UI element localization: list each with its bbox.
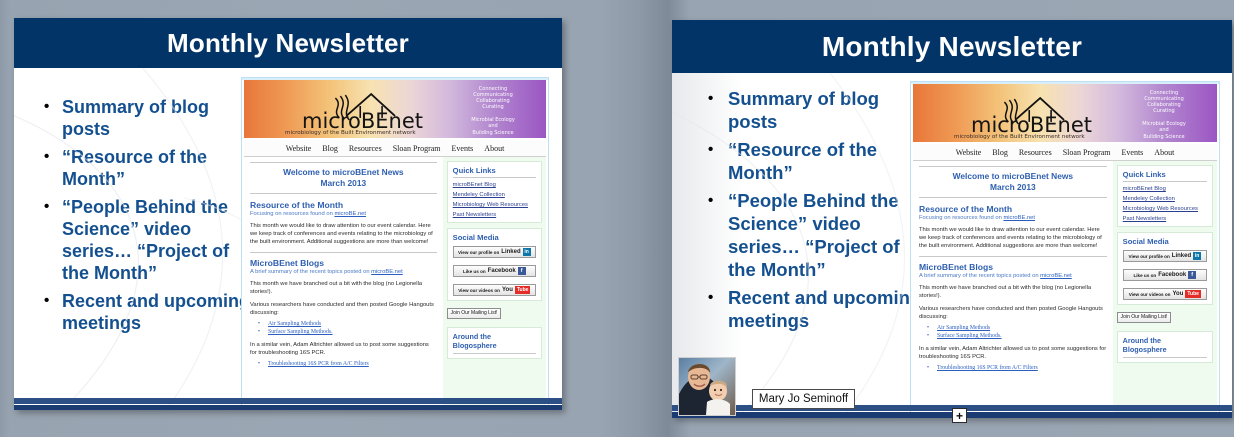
newsletter-main-column: Welcome to microBEnet News March 2013 Re… [913, 161, 1113, 416]
presenter-webcam-video[interactable] [678, 357, 736, 416]
newsletter-sidebar-column: Quick Links microBEnet Blog Mendeley Col… [1113, 161, 1217, 416]
nav-item-sloan-program[interactable]: Sloan Program [393, 144, 441, 153]
logo-right-block: Connecting Communicating Collaborating C… [450, 86, 536, 136]
list-item: • Recent and upcoming meetings [44, 290, 254, 334]
facebook-brand: Facebook [1158, 272, 1186, 278]
list-item[interactable]: •Air Sampling Methods [250, 320, 437, 328]
section-subtitle-text: Focusing on resources found on [919, 215, 1003, 221]
link-troubleshooting-pcr[interactable]: Troubleshooting 16S PCR from A/C Filters [268, 360, 369, 368]
presenter-name-text: Mary Jo Seminoff [759, 393, 848, 405]
newsletter-nav[interactable]: Website Blog Resources Sloan Program Eve… [244, 140, 546, 157]
section-subtitle-resource: Focusing on resources found on microBE.n… [250, 211, 437, 217]
quick-link-blog[interactable]: microBEnet Blog [1123, 186, 1207, 192]
section-subtitle-blogs: A brief summary of the recent topics pos… [250, 269, 437, 275]
logo-right-line: Building Science [450, 130, 536, 136]
youtube-brand: You [502, 287, 513, 293]
facebook-button[interactable]: Like us on Facebook f [1123, 269, 1207, 281]
newsletter-logo-banner: microBEnet microbiology of the Built Env… [244, 80, 546, 138]
blogosphere-title-line-1: Around the [1123, 336, 1207, 345]
youtube-label: View our videos on [1129, 292, 1171, 297]
youtube-brand: You [1172, 291, 1183, 297]
list-item: • “People Behind the Science” video seri… [708, 189, 923, 281]
newsletter-nav[interactable]: Website Blog Resources Sloan Program Eve… [913, 144, 1217, 161]
newsletter-columns: Welcome to microBEnet News March 2013 Re… [913, 161, 1217, 416]
link-air-sampling[interactable]: Air Sampling Methods [268, 320, 321, 328]
nav-item-blog[interactable]: Blog [992, 148, 1008, 157]
logo-right-line: Building Science [1121, 134, 1207, 140]
slide-footer-bar-left-2 [14, 405, 562, 410]
newsletter-image-left[interactable]: microBEnet microbiology of the Built Env… [241, 77, 549, 410]
list-item[interactable]: •Troubleshooting 16S PCR from A/C Filter… [250, 360, 437, 368]
bullet-text: Recent and upcoming meetings [728, 286, 923, 332]
microbe-net-link[interactable]: microBE.net [1003, 215, 1035, 221]
blogosphere-title-line-2: Blogosphere [1123, 345, 1207, 354]
bullet-dot-icon: • [919, 324, 937, 332]
bullet-text: “People Behind the Science” video series… [728, 189, 923, 281]
quick-link-past-newsletters[interactable]: Past Newsletters [453, 212, 536, 218]
facebook-label: Like us on [1133, 273, 1156, 278]
nav-item-blog[interactable]: Blog [322, 144, 338, 153]
section-subtitle-text: A brief summary of the recent topics pos… [919, 273, 1040, 279]
presenter-thumbnail-image [679, 358, 735, 415]
bullet-text: “Resource of the Month” [728, 138, 923, 184]
masthead-line-1: Welcome to microBEnet News [919, 171, 1107, 182]
bullet-list-left: • Summary of blog posts • “Resource of t… [14, 68, 254, 410]
section-paragraph-pcr: In a similar vein, Adam Altrichter allow… [250, 341, 437, 357]
quick-link-web-resources[interactable]: Microbiology Web Resources [1123, 206, 1207, 212]
slide-panel-right[interactable]: Monthly Newsletter • Summary of blog pos… [672, 20, 1232, 418]
bullet-dot-icon: • [919, 364, 937, 372]
nav-item-events[interactable]: Events [452, 144, 474, 153]
join-mailing-list-label: Join Our Mailing List! [1121, 314, 1168, 320]
youtube-button[interactable]: View our videos on You Tube [1123, 288, 1207, 300]
section-paragraph-hangouts: Various researchers have conducted and t… [919, 305, 1107, 321]
nav-item-about[interactable]: About [1154, 148, 1174, 157]
list-item: • “Resource of the Month” [44, 146, 254, 190]
section-paragraph-resource: This month we would like to draw attenti… [919, 226, 1107, 250]
slide-footer-bar-left [14, 398, 562, 404]
section-title-blogs: MicroBEnet Blogs [250, 258, 437, 268]
quick-links-title: Quick Links [453, 166, 536, 175]
newsletter-image-right[interactable]: microBEnet microbiology of the Built Env… [910, 81, 1220, 416]
blogosphere-card: Around the Blogosphere [1117, 331, 1213, 363]
linkedin-button[interactable]: View our profile on Linked in [453, 246, 536, 258]
facebook-icon: f [518, 267, 526, 275]
bullet-dot-icon: • [250, 360, 268, 368]
bullet-dot-icon: • [250, 320, 268, 328]
youtube-button[interactable]: View our videos on You Tube [453, 284, 536, 296]
section-paragraph-pcr: In a similar vein, Adam Altrichter allow… [919, 345, 1107, 361]
section-paragraph-hangouts: Various researchers have conducted and t… [250, 301, 437, 317]
nav-item-events[interactable]: Events [1122, 148, 1144, 157]
newsletter-columns: Welcome to microBEnet News March 2013 Re… [244, 157, 546, 410]
bullet-dot-icon: • [44, 96, 62, 118]
section-paragraph-resource: This month we would like to draw attenti… [250, 222, 437, 246]
bullet-dot-icon: • [44, 290, 62, 312]
slide-content-right: • Summary of blog posts • “Resource of t… [672, 73, 1232, 418]
list-item[interactable]: •Air Sampling Methods [919, 324, 1107, 332]
microbe-net-link[interactable]: microBE.net [1040, 273, 1072, 279]
quick-link-mendeley[interactable]: Mendeley Collection [1123, 196, 1207, 202]
blogosphere-title-line-2: Blogosphere [453, 341, 536, 350]
nav-item-resources[interactable]: Resources [1019, 148, 1052, 157]
quick-link-web-resources[interactable]: Microbiology Web Resources [453, 202, 536, 208]
newsletter-logo-banner: microBEnet microbiology of the Built Env… [913, 84, 1217, 142]
bullet-dot-icon: • [250, 328, 268, 336]
join-mailing-list-button[interactable]: Join Our Mailing List! [447, 308, 502, 319]
bullet-text: Recent and upcoming meetings [62, 290, 254, 334]
list-item: • Summary of blog posts [708, 87, 923, 133]
section-paragraph-blogs: This month we have branched out a bit wi… [919, 284, 1107, 300]
linkedin-label: View our profile on [458, 250, 499, 255]
linkedin-icon: in [1193, 252, 1201, 260]
logo-tagline: microbiology of the Built Environment ne… [954, 134, 1085, 140]
nav-item-sloan-program[interactable]: Sloan Program [1063, 148, 1111, 157]
quick-links-card: Quick Links microBEnet Blog Mendeley Col… [447, 161, 542, 223]
microbe-net-link[interactable]: microBE.net [371, 269, 403, 275]
quick-links-title: Quick Links [1123, 170, 1207, 179]
plus-icon: + [956, 409, 963, 423]
link-troubleshooting-pcr[interactable]: Troubleshooting 16S PCR from A/C Filters [937, 364, 1038, 372]
facebook-icon: f [1188, 271, 1196, 279]
social-media-card: Social Media View our profile on Linked … [447, 228, 542, 301]
section-title-resource: Resource of the Month [919, 204, 1107, 214]
link-surface-sampling[interactable]: Surface Sampling Methods. [937, 332, 1002, 340]
list-item[interactable]: •Troubleshooting 16S PCR from A/C Filter… [919, 364, 1107, 372]
list-item: • “Resource of the Month” [708, 138, 923, 184]
newsletter-main-column: Welcome to microBEnet News March 2013 Re… [244, 157, 443, 410]
link-surface-sampling[interactable]: Surface Sampling Methods. [268, 328, 333, 336]
section-subtitle-text: A brief summary of the recent topics pos… [250, 269, 371, 275]
linkedin-icon: in [523, 248, 531, 256]
section-title-resource: Resource of the Month [250, 200, 437, 210]
page-title: Monthly Newsletter [167, 28, 409, 59]
newsletter-sidebar-column: Quick Links microBEnet Blog Mendeley Col… [443, 157, 546, 410]
youtube-label: View our videos on [458, 288, 500, 293]
presenter-name-label: Mary Jo Seminoff [752, 389, 855, 409]
youtube-icon: Tube [515, 286, 531, 294]
bullet-dot-icon: • [708, 87, 728, 110]
quick-link-mendeley[interactable]: Mendeley Collection [453, 192, 536, 198]
slide-content-left: • Summary of blog posts • “Resource of t… [14, 68, 562, 410]
masthead-line-1: Welcome to microBEnet News [250, 167, 437, 178]
section-paragraph-blogs: This month we have branched out a bit wi… [250, 280, 437, 296]
masthead-line-2: March 2013 [919, 182, 1107, 193]
bullet-dot-icon: • [708, 189, 728, 212]
bullet-text: Summary of blog posts [62, 96, 254, 140]
list-item: • Summary of blog posts [44, 96, 254, 140]
page-title: Monthly Newsletter [822, 31, 1082, 63]
blogosphere-title-line-1: Around the [453, 332, 536, 341]
facebook-label: Like us on [463, 269, 486, 274]
quick-link-blog[interactable]: microBEnet Blog [453, 182, 536, 188]
join-mailing-list-label: Join Our Mailing List! [451, 310, 498, 316]
nav-item-resources[interactable]: Resources [349, 144, 382, 153]
masthead-line-2: March 2013 [250, 178, 437, 189]
logo-tagline: microbiology of the Built Environment ne… [285, 130, 416, 136]
linkedin-button[interactable]: View our profile on Linked in [1123, 250, 1207, 262]
logo-right-block: Connecting Communicating Collaborating C… [1121, 90, 1207, 140]
bullet-dot-icon: • [708, 138, 728, 161]
list-item: • “People Behind the Science” video seri… [44, 196, 254, 284]
social-media-title: Social Media [453, 233, 536, 242]
nav-item-website[interactable]: Website [286, 144, 312, 153]
facebook-button[interactable]: Like us on Facebook f [453, 265, 536, 277]
linkedin-label: View our profile on [1129, 254, 1170, 259]
nav-item-website[interactable]: Website [956, 148, 982, 157]
bullet-text: Summary of blog posts [728, 87, 923, 133]
slide-panel-left[interactable]: Monthly Newsletter • Summary of blog pos… [14, 18, 562, 410]
list-item[interactable]: •Surface Sampling Methods. [250, 328, 437, 336]
bullet-dot-icon: • [919, 332, 937, 340]
section-subtitle-text: Focusing on resources found on [250, 211, 334, 217]
quick-link-past-newsletters[interactable]: Past Newsletters [1123, 216, 1207, 222]
section-title-blogs: MicroBEnet Blogs [919, 262, 1107, 272]
youtube-icon: Tube [1185, 290, 1201, 298]
bullet-dot-icon: • [44, 146, 62, 168]
slide-title-bar-right: Monthly Newsletter [672, 20, 1232, 73]
blogosphere-card: Around the Blogosphere [447, 327, 542, 359]
bullet-dot-icon: • [708, 286, 728, 309]
slide-title-bar-left: Monthly Newsletter [14, 18, 562, 68]
quick-links-card: Quick Links microBEnet Blog Mendeley Col… [1117, 165, 1213, 227]
bullet-text: “People Behind the Science” video series… [62, 196, 254, 284]
bullet-dot-icon: • [44, 196, 62, 218]
linkedin-brand: Linked [501, 249, 520, 255]
nav-item-about[interactable]: About [484, 144, 504, 153]
microbe-net-link[interactable]: microBE.net [334, 211, 366, 217]
join-mailing-list-button[interactable]: Join Our Mailing List! [1117, 312, 1172, 323]
expand-toolbar-button[interactable]: + [952, 408, 967, 423]
facebook-brand: Facebook [488, 268, 516, 274]
section-subtitle-blogs: A brief summary of the recent topics pos… [919, 273, 1107, 279]
link-air-sampling[interactable]: Air Sampling Methods [937, 324, 990, 332]
list-item: • Recent and upcoming meetings [708, 286, 923, 332]
social-media-card: Social Media View our profile on Linked … [1117, 232, 1213, 305]
section-subtitle-resource: Focusing on resources found on microBE.n… [919, 215, 1107, 221]
bullet-text: “Resource of the Month” [62, 146, 254, 190]
list-item[interactable]: •Surface Sampling Methods. [919, 332, 1107, 340]
social-media-title: Social Media [1123, 237, 1207, 246]
linkedin-brand: Linked [1172, 253, 1191, 259]
